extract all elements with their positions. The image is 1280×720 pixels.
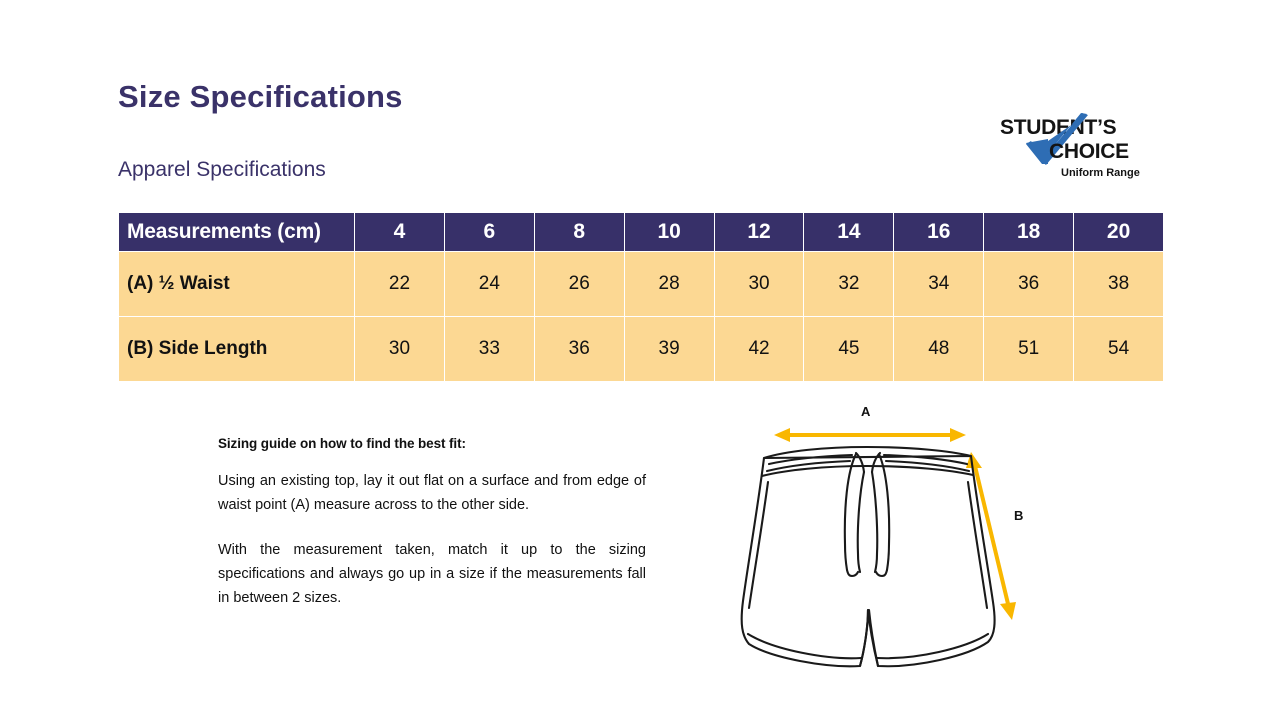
table-cell: 30 [714, 252, 804, 317]
table-cell: 51 [984, 317, 1074, 382]
table-row: (B) Side Length 30 33 36 39 42 45 48 51 … [119, 317, 1164, 382]
table-cell: 28 [624, 252, 714, 317]
table-body: (A) ½ Waist 22 24 26 28 30 32 34 36 38 (… [119, 252, 1164, 382]
logo-brand-line2: CHOICE [1049, 140, 1129, 164]
sizing-guide-paragraph-1: Using an existing top, lay it out flat o… [218, 469, 646, 517]
measurement-arrow-a [774, 428, 966, 442]
row-label: (A) ½ Waist [119, 252, 355, 317]
table-cell: 30 [355, 317, 445, 382]
table-cell: 42 [714, 317, 804, 382]
column-header-size: 14 [804, 213, 894, 252]
sizing-guide: Sizing guide on how to find the best fit… [218, 436, 646, 610]
table-cell: 33 [444, 317, 534, 382]
column-header-size: 18 [984, 213, 1074, 252]
shorts-outline [742, 447, 995, 666]
garment-diagram: A B [716, 396, 1056, 688]
row-label: (B) Side Length [119, 317, 355, 382]
sizing-guide-heading: Sizing guide on how to find the best fit… [218, 436, 646, 451]
table-cell: 38 [1074, 252, 1164, 317]
column-header-measurements: Measurements (cm) [119, 213, 355, 252]
table-cell: 36 [534, 317, 624, 382]
column-header-size: 16 [894, 213, 984, 252]
table-cell: 54 [1074, 317, 1164, 382]
shorts-sketch-icon [716, 396, 1056, 688]
brand-logo: STUDENT’S CHOICE Uniform Range [1000, 116, 1170, 186]
table-cell: 34 [894, 252, 984, 317]
column-header-size: 20 [1074, 213, 1164, 252]
column-header-size: 12 [714, 213, 804, 252]
table-header-row: Measurements (cm) 4 6 8 10 12 14 16 18 2… [119, 213, 1164, 252]
table-cell: 24 [444, 252, 534, 317]
table-row: (A) ½ Waist 22 24 26 28 30 32 34 36 38 [119, 252, 1164, 317]
table-cell: 48 [894, 317, 984, 382]
table-header: Measurements (cm) 4 6 8 10 12 14 16 18 2… [119, 213, 1164, 252]
column-header-size: 10 [624, 213, 714, 252]
dimension-label-b: B [1014, 508, 1023, 523]
page-title: Size Specifications [118, 79, 403, 115]
slide-canvas: Size Specifications Apparel Specificatio… [0, 0, 1280, 720]
table-cell: 22 [355, 252, 445, 317]
table-cell: 36 [984, 252, 1074, 317]
dimension-label-a: A [861, 404, 870, 419]
column-header-size: 4 [355, 213, 445, 252]
page-subtitle: Apparel Specifications [118, 158, 326, 182]
table-cell: 39 [624, 317, 714, 382]
size-specifications-table: Measurements (cm) 4 6 8 10 12 14 16 18 2… [118, 212, 1164, 382]
sizing-guide-paragraph-2: With the measurement taken, match it up … [218, 538, 646, 610]
column-header-size: 8 [534, 213, 624, 252]
table-cell: 32 [804, 252, 894, 317]
table-cell: 45 [804, 317, 894, 382]
column-header-size: 6 [444, 213, 534, 252]
table-cell: 26 [534, 252, 624, 317]
logo-tagline: Uniform Range [1061, 167, 1140, 179]
